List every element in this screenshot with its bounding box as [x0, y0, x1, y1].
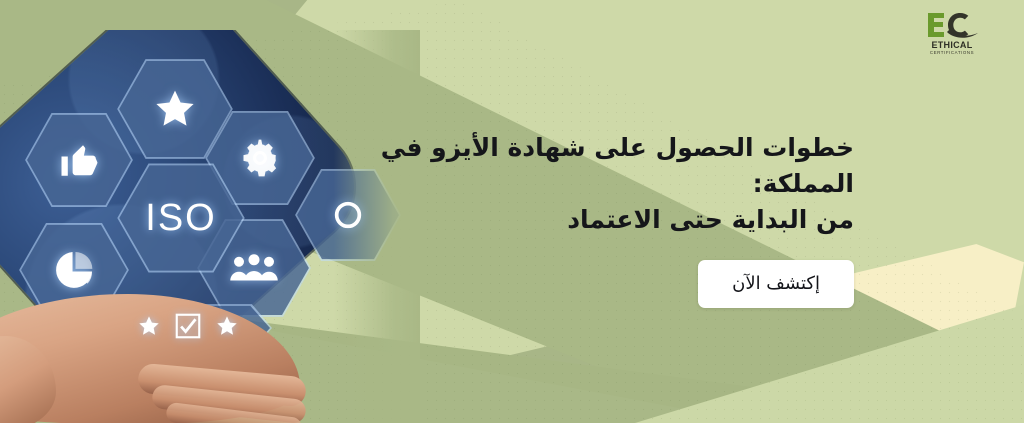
- headline-line-1: خطوات الحصول على شهادة الأيزو في المملكة…: [381, 133, 854, 198]
- hero-illustration: ISO: [0, 30, 420, 423]
- iso-center-hexagon: ISO: [116, 160, 246, 276]
- star-glyph: [152, 86, 198, 132]
- page-title: خطوات الحصول على شهادة الأيزو في المملكة…: [334, 130, 854, 238]
- pie-chart-glyph: [52, 248, 96, 292]
- circle-glyph: [331, 198, 365, 232]
- thumbs-up-glyph: [58, 139, 100, 181]
- copy-block: خطوات الحصول على شهادة الأيزو في المملكة…: [334, 130, 854, 308]
- iso-certification-banner: ISO: [0, 0, 1024, 423]
- checkbox-glyph: [173, 311, 203, 345]
- hand-illustration: [0, 266, 330, 423]
- iso-label: ISO: [145, 197, 216, 240]
- headline-line-2: من البداية حتى الاعتماد: [334, 202, 854, 238]
- star-small-left: [215, 314, 239, 342]
- star-small-right: [137, 314, 161, 342]
- logo-line-1: ETHICAL: [922, 40, 982, 50]
- gear-glyph: [238, 136, 282, 180]
- discover-now-button[interactable]: إكتشف الآن: [698, 260, 854, 308]
- ec-monogram-icon: [922, 10, 982, 40]
- brand-logo[interactable]: ETHICAL CERTIFICATIONS: [922, 10, 982, 58]
- users-group-glyph: [229, 251, 279, 285]
- logo-line-2: CERTIFICATIONS: [921, 50, 984, 56]
